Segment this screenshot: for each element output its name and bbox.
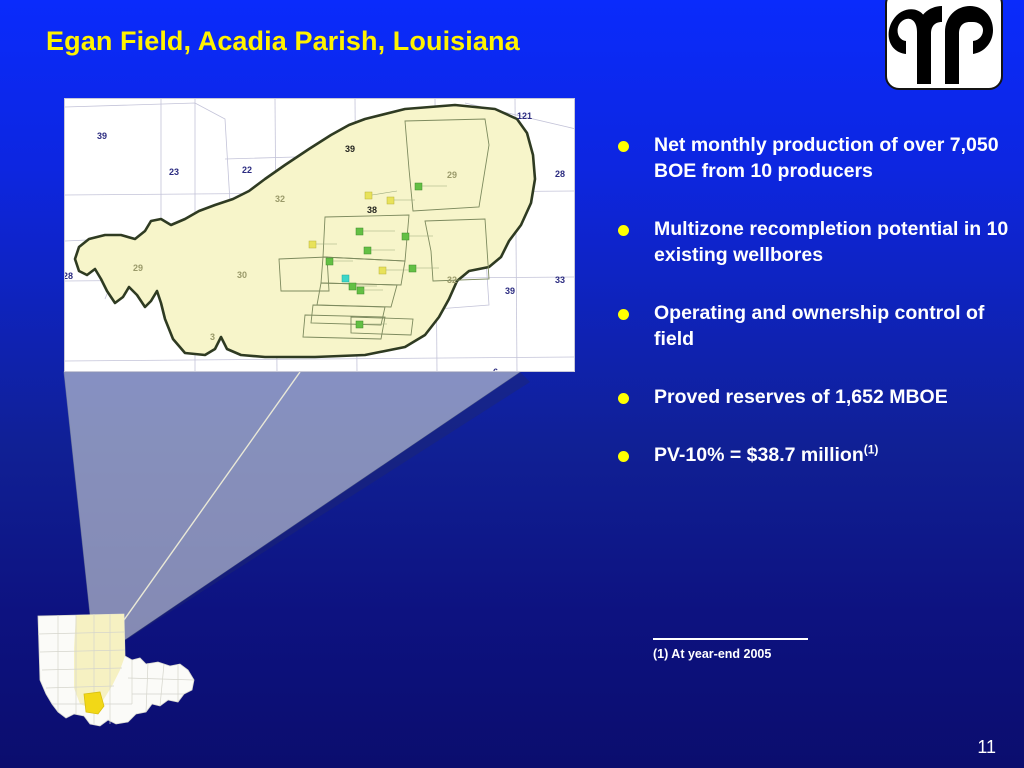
bullet-dot-icon	[618, 141, 629, 152]
svg-text:39: 39	[345, 144, 355, 154]
bullet-text-main: PV-10% = $38.7 million	[654, 444, 864, 466]
bullet-item: Multizone recompletion potential in 10 e…	[612, 216, 1012, 268]
page-number: 11	[977, 737, 996, 758]
bullet-text: PV-10% = $38.7 million(1)	[654, 442, 1012, 468]
svg-text:29: 29	[133, 263, 143, 273]
bullet-text: Net monthly production of over 7,050 BOE…	[654, 132, 1012, 184]
louisiana-state-inset-map	[28, 608, 200, 736]
footnote-text: (1) At year-end 2005	[653, 647, 913, 661]
bullet-dot-icon	[618, 225, 629, 236]
svg-text:6: 6	[493, 367, 498, 372]
svg-text:38: 38	[367, 205, 377, 215]
bullet-dot-icon	[618, 309, 629, 320]
svg-text:39: 39	[505, 286, 515, 296]
bullet-dot-icon	[618, 451, 629, 462]
svg-text:39: 39	[97, 131, 107, 141]
svg-text:33: 33	[555, 275, 565, 285]
svg-text:32: 32	[275, 194, 285, 204]
company-logo	[885, 0, 1003, 90]
svg-text:121: 121	[517, 111, 532, 121]
svg-text:30: 30	[237, 270, 247, 280]
page-title: Egan Field, Acadia Parish, Louisiana	[46, 26, 520, 57]
svg-text:28: 28	[555, 169, 565, 179]
footnote-marker: (1)	[864, 443, 879, 457]
svg-text:3: 3	[210, 332, 215, 342]
bullet-item: Net monthly production of over 7,050 BOE…	[612, 132, 1012, 184]
bullet-dot-icon	[618, 393, 629, 404]
bullet-list: Net monthly production of over 7,050 BOE…	[612, 132, 1012, 500]
hook-mark-icon	[887, 0, 1001, 88]
svg-text:22: 22	[242, 165, 252, 175]
egan-field-map: 39 23 22 121 28 28 33 39 6 39 32 29 29 3…	[64, 98, 575, 372]
svg-text:28: 28	[65, 271, 73, 281]
bullet-text: Proved reserves of 1,652 MBOE	[654, 384, 1012, 410]
bullet-text: Multizone recompletion potential in 10 e…	[654, 216, 1012, 268]
bullet-item: PV-10% = $38.7 million(1)	[612, 442, 1012, 468]
footnote-rule	[653, 638, 808, 640]
bullet-text: Operating and ownership control of field	[654, 300, 1012, 352]
presentation-slide: Egan Field, Acadia Parish, Louisiana	[0, 0, 1024, 768]
svg-text:29: 29	[447, 170, 457, 180]
svg-text:23: 23	[169, 167, 179, 177]
bullet-item: Proved reserves of 1,652 MBOE	[612, 384, 1012, 410]
bullet-item: Operating and ownership control of field	[612, 300, 1012, 352]
footnote: (1) At year-end 2005	[653, 638, 913, 661]
svg-text:32: 32	[447, 275, 457, 285]
